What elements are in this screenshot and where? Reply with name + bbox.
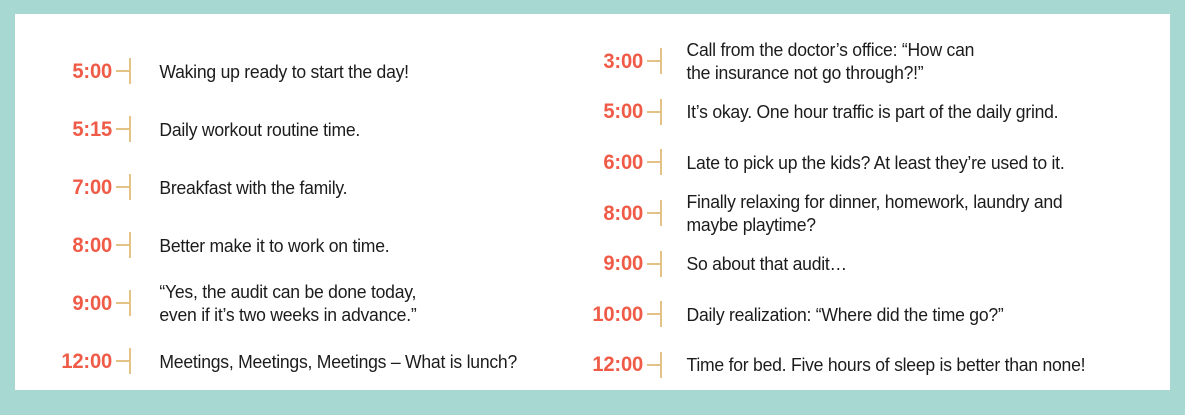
schedule-row: 12:00 Time for bed. Five hours of sleep … xyxy=(550,339,1170,390)
schedule-row: 6:00 Late to pick up the kids? At least … xyxy=(550,137,1170,188)
activity-text: So about that audit… xyxy=(677,252,1145,275)
activity-text: “Yes, the audit can be done today, even … xyxy=(148,280,530,326)
tick-mark-icon xyxy=(112,174,148,200)
schedule-row: 12:00 Meetings, Meetings, Meetings – Wha… xyxy=(15,332,550,390)
time-label: 6:00 xyxy=(554,152,643,173)
daily-schedule-infographic: 5:00 Waking up ready to start the day! 5… xyxy=(0,0,1185,415)
schedule-row: 8:00 Better make it to work on time. xyxy=(15,216,550,274)
schedule-row: 9:00 So about that audit… xyxy=(550,238,1170,289)
time-label: 12:00 xyxy=(554,354,643,375)
time-label: 9:00 xyxy=(554,253,643,274)
time-label: 12:00 xyxy=(19,351,112,372)
activity-text: Late to pick up the kids? At least they’… xyxy=(677,151,1145,174)
activity-text: Time for bed. Five hours of sleep is bet… xyxy=(677,353,1145,376)
tick-mark-icon xyxy=(643,352,677,378)
time-label: 8:00 xyxy=(19,235,112,256)
time-label: 5:00 xyxy=(554,101,643,122)
tick-mark-icon xyxy=(112,348,148,374)
time-label: 9:00 xyxy=(19,293,112,314)
tick-mark-icon xyxy=(112,58,148,84)
activity-text: Call from the doctor’s office: “How can … xyxy=(677,38,1145,84)
activity-text: Breakfast with the family. xyxy=(148,176,530,199)
tick-mark-icon xyxy=(643,301,677,327)
schedule-column-evening: 3:00 Call from the doctor’s office: “How… xyxy=(550,14,1170,390)
activity-text: Daily realization: “Where did the time g… xyxy=(677,303,1145,326)
schedule-row: 3:00 Call from the doctor’s office: “How… xyxy=(550,36,1170,87)
activity-text: Meetings, Meetings, Meetings – What is l… xyxy=(148,350,530,373)
schedule-row: 5:00 Waking up ready to start the day! xyxy=(15,42,550,100)
schedule-row: 10:00 Daily realization: “Where did the … xyxy=(550,289,1170,340)
time-label: 3:00 xyxy=(554,51,643,72)
time-label: 5:15 xyxy=(19,119,112,140)
time-label: 5:00 xyxy=(19,61,112,82)
tick-mark-icon xyxy=(112,232,148,258)
tick-mark-icon xyxy=(643,99,677,125)
activity-text: Finally relaxing for dinner, homework, l… xyxy=(677,190,1145,236)
schedule-row: 8:00 Finally relaxing for dinner, homewo… xyxy=(550,188,1170,239)
tick-mark-icon xyxy=(112,116,148,142)
schedule-row: 5:00 It’s okay. One hour traffic is part… xyxy=(550,87,1170,138)
activity-text: Daily workout routine time. xyxy=(148,118,530,141)
schedule-panel: 5:00 Waking up ready to start the day! 5… xyxy=(15,14,1170,390)
tick-mark-icon xyxy=(643,200,677,226)
tick-mark-icon xyxy=(643,251,677,277)
activity-text: Waking up ready to start the day! xyxy=(148,60,530,83)
schedule-row: 9:00 “Yes, the audit can be done today, … xyxy=(15,274,550,332)
activity-text: It’s okay. One hour traffic is part of t… xyxy=(677,100,1145,123)
schedule-row: 5:15 Daily workout routine time. xyxy=(15,100,550,158)
time-label: 7:00 xyxy=(19,177,112,198)
tick-mark-icon xyxy=(643,149,677,175)
time-label: 8:00 xyxy=(554,203,643,224)
tick-mark-icon xyxy=(112,290,148,316)
activity-text: Better make it to work on time. xyxy=(148,234,530,257)
time-label: 10:00 xyxy=(554,304,643,325)
tick-mark-icon xyxy=(643,48,677,74)
schedule-column-morning: 5:00 Waking up ready to start the day! 5… xyxy=(15,14,550,390)
schedule-row: 7:00 Breakfast with the family. xyxy=(15,158,550,216)
